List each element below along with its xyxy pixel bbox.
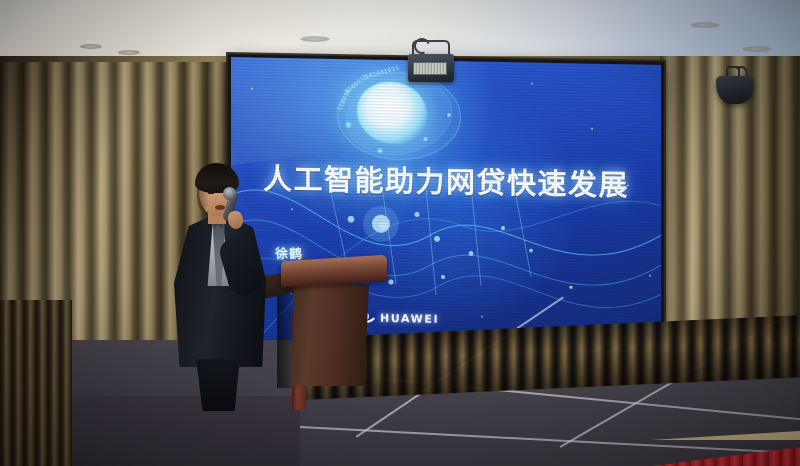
speaker-body: [716, 76, 754, 104]
presenter: [168, 163, 286, 408]
globe-node: [377, 148, 383, 154]
recessed-ceiling-light: [80, 44, 102, 49]
floor-grid-line: [300, 426, 800, 455]
presenter-mouth: [215, 205, 225, 210]
star-dot: [591, 128, 593, 130]
ceiling-vent: [690, 22, 720, 28]
globe-node: [423, 137, 428, 142]
presentation-photo-scene: 110010 0100110 101001011 01001010110: [0, 0, 800, 466]
ceiling-vent: [742, 46, 772, 52]
huawei-wordmark: HUAWEI: [380, 312, 439, 326]
slide-title: 人工智能助力网贷快速发展: [231, 155, 661, 205]
globe-node: [447, 113, 451, 117]
spotlight-lens: [413, 62, 447, 75]
star-dot: [531, 83, 533, 85]
presenter-legs: [192, 359, 244, 411]
ceiling-vent: [300, 36, 330, 42]
stage-spotlight: [404, 36, 458, 84]
globe-node: [345, 121, 352, 128]
wall-speaker: [716, 66, 756, 106]
podium-top-surface: [281, 255, 387, 288]
recessed-ceiling-light: [118, 50, 140, 55]
left-slat-panel: [0, 300, 72, 466]
podium-body: [291, 280, 369, 386]
binary-digit: 101001011: [365, 65, 400, 80]
star-dot: [251, 87, 253, 89]
